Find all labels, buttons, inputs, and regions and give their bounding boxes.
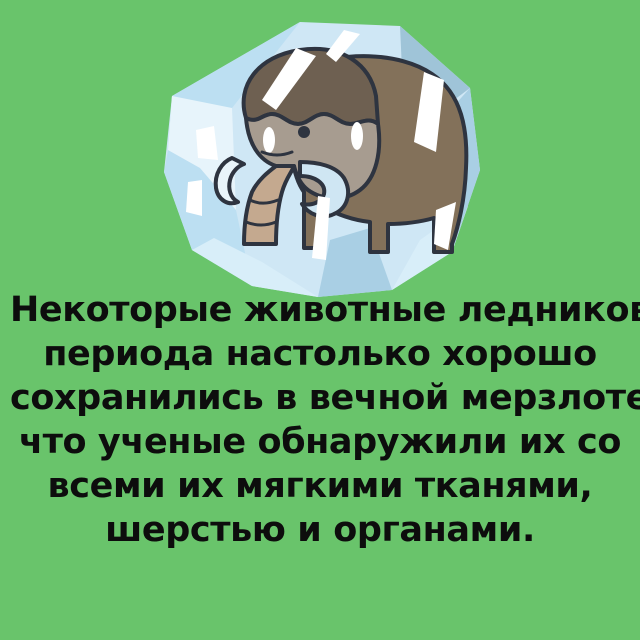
mammoth-eye bbox=[298, 126, 310, 138]
mammoth-cheek-highlight bbox=[263, 127, 275, 153]
caption-line-3: сохранились в вечной мерзлоте, bbox=[10, 376, 630, 420]
caption-text: Некоторые животные ледникового периода н… bbox=[0, 288, 640, 552]
meme-card: Некоторые животные ледникового периода н… bbox=[0, 0, 640, 640]
mammoth-ear-highlight bbox=[351, 122, 363, 150]
caption-line-1: Некоторые животные ледникового bbox=[10, 288, 630, 332]
ice-highlight-left-lower bbox=[186, 180, 202, 216]
caption-line-6: шерстью и органами. bbox=[10, 508, 630, 552]
caption-line-2: периода настолько хорошо bbox=[10, 332, 630, 376]
caption-line-4: что ученые обнаружили их со bbox=[10, 420, 630, 464]
caption-line-5: всеми их мягкими тканями, bbox=[10, 464, 630, 508]
frozen-mammoth-illustration bbox=[0, 0, 640, 300]
mammoth-ice-svg bbox=[0, 0, 640, 300]
